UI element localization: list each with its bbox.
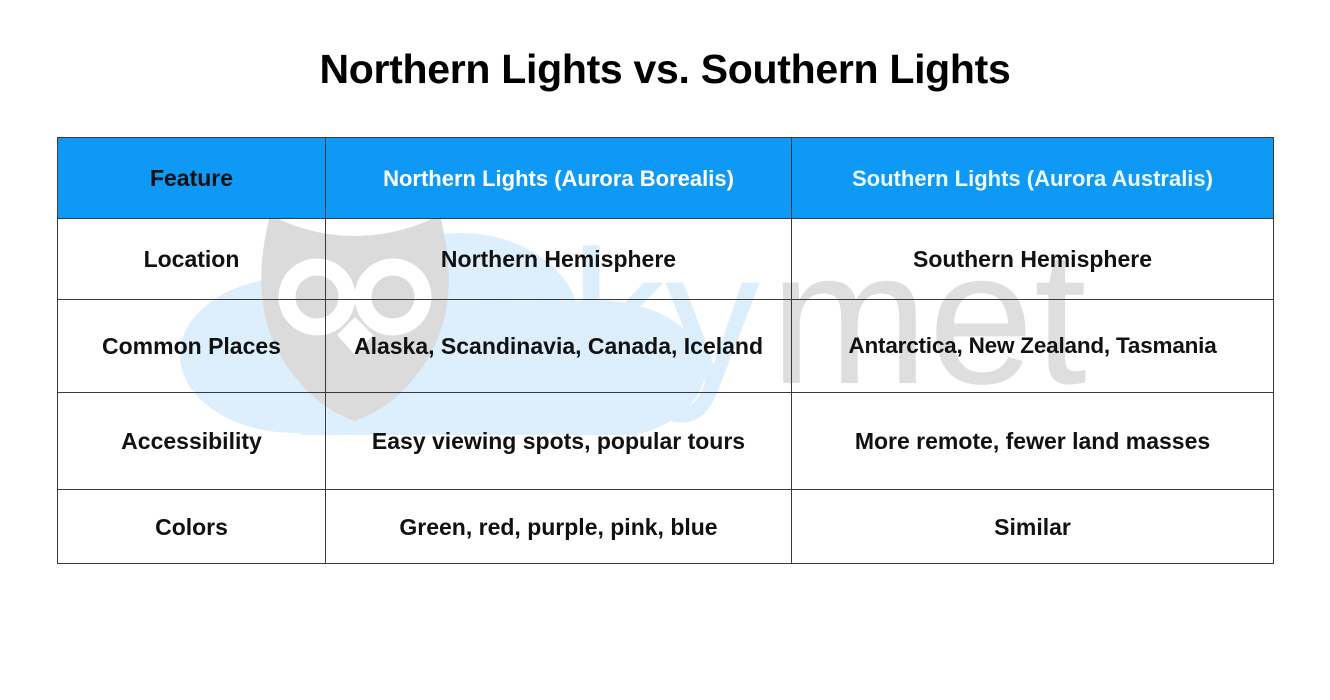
table-row: Location Northern Hemisphere Southern He… <box>58 219 1274 300</box>
table-header-row: Feature Northern Lights (Aurora Borealis… <box>58 138 1274 219</box>
table-row: Common Places Alaska, Scandinavia, Canad… <box>58 300 1274 393</box>
cell-feature: Common Places <box>58 300 326 393</box>
page-root: Northern Lights vs. Southern Lights sky <box>0 0 1330 700</box>
cell-southern: Southern Hemisphere <box>792 219 1274 300</box>
column-header-southern-lights: Southern Lights (Aurora Australis) <box>792 138 1274 219</box>
cell-feature: Colors <box>58 490 326 564</box>
cell-northern: Green, red, purple, pink, blue <box>326 490 792 564</box>
cell-southern: Similar <box>792 490 1274 564</box>
cell-northern: Easy viewing spots, popular tours <box>326 393 792 490</box>
comparison-table-wrapper: Feature Northern Lights (Aurora Borealis… <box>57 137 1273 564</box>
cell-feature: Accessibility <box>58 393 326 490</box>
cell-southern: Antarctica, New Zealand, Tasmania <box>792 300 1274 393</box>
page-title: Northern Lights vs. Southern Lights <box>0 40 1330 98</box>
comparison-table: Feature Northern Lights (Aurora Borealis… <box>57 137 1274 564</box>
table-body: Location Northern Hemisphere Southern He… <box>58 219 1274 564</box>
cell-feature: Location <box>58 219 326 300</box>
table-header: Feature Northern Lights (Aurora Borealis… <box>58 138 1274 219</box>
cell-southern: More remote, fewer land masses <box>792 393 1274 490</box>
cell-northern: Alaska, Scandinavia, Canada, Iceland <box>326 300 792 393</box>
table-row: Accessibility Easy viewing spots, popula… <box>58 393 1274 490</box>
table-row: Colors Green, red, purple, pink, blue Si… <box>58 490 1274 564</box>
column-header-feature: Feature <box>58 138 326 219</box>
cell-northern: Northern Hemisphere <box>326 219 792 300</box>
column-header-northern-lights: Northern Lights (Aurora Borealis) <box>326 138 792 219</box>
